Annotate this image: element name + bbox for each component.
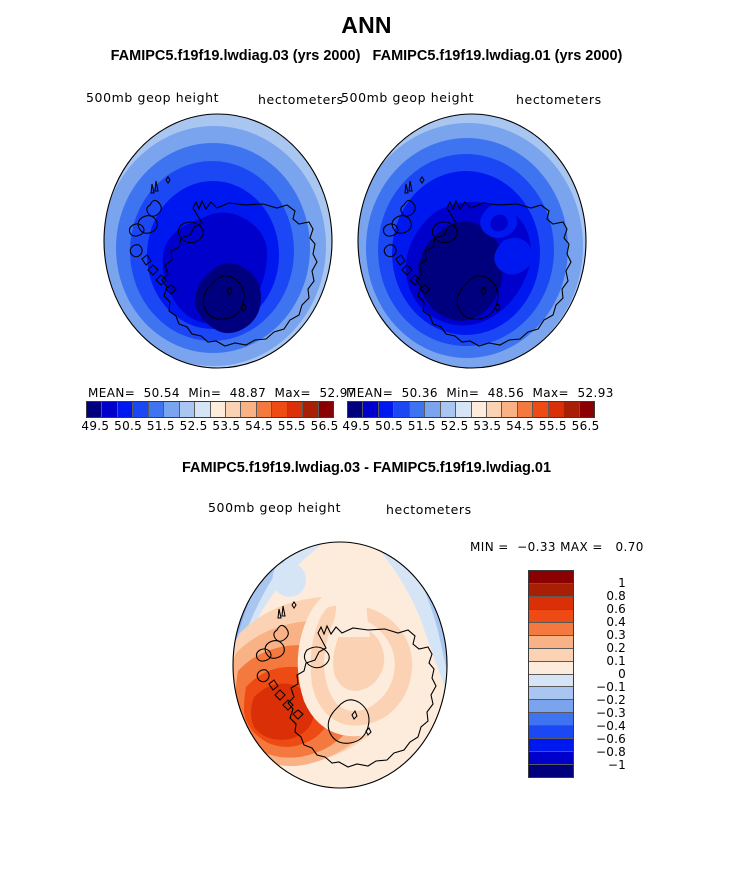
colorbar-band-11: [256, 402, 271, 417]
difference-tick-label-11: −0.4: [580, 719, 626, 733]
colorbar-band-13: [548, 402, 563, 417]
left-stats-line: MEAN= 50.54 Min= 48.87 Max= 52.97: [88, 386, 356, 400]
difference-minmax-line: MIN = −0.33 MAX = 0.70: [470, 540, 644, 554]
right-stats-line: MEAN= 50.36 Min= 48.56 Max= 52.93: [346, 386, 614, 400]
difference-colorbar-wrap: [528, 570, 574, 778]
polar-map-difference: [232, 541, 448, 789]
colorbar-band-1: [101, 402, 116, 417]
difference-tick-label-2: 0.6: [580, 602, 626, 616]
colorbar-band-13: [287, 402, 302, 417]
difference-tick-label-4: 0.3: [580, 628, 626, 642]
colorbar-band-6: [529, 648, 573, 661]
left-colorbar: [86, 401, 334, 418]
colorbar-band-15: [318, 402, 333, 417]
difference-tick-label-5: 0.2: [580, 641, 626, 655]
left-colorbar-ticks: 49.550.551.552.553.554.555.556.5: [79, 419, 341, 433]
difference-tick-label-1: 0.8: [580, 589, 626, 603]
colorbar-band-2: [529, 596, 573, 609]
colorbar-band-1: [529, 583, 573, 596]
difference-tick-label-7: 0: [580, 667, 626, 681]
colorbar-band-15: [529, 764, 573, 777]
colorbar-band-6: [179, 402, 194, 417]
difference-variable-label: 500mb geop height: [208, 500, 341, 515]
tick-label-0: 49.5: [340, 419, 373, 433]
colorbar-band-9: [529, 686, 573, 699]
tick-label-4: 53.5: [471, 419, 504, 433]
right-units-label: hectometers: [516, 92, 602, 107]
colorbar-band-5: [424, 402, 439, 417]
difference-tick-label-3: 0.4: [580, 615, 626, 629]
tick-label-1: 50.5: [373, 419, 406, 433]
colorbar-band-4: [409, 402, 424, 417]
difference-colorbar-ticks: 10.80.60.40.30.20.10−0.1−0.2−0.3−0.4−0.6…: [580, 570, 640, 778]
difference-tick-label-10: −0.3: [580, 706, 626, 720]
colorbar-band-1: [362, 402, 377, 417]
colorbar-band-14: [563, 402, 578, 417]
colorbar-band-10: [529, 699, 573, 712]
colorbar-band-10: [240, 402, 255, 417]
right-colorbar: [347, 401, 595, 418]
colorbar-band-0: [87, 402, 101, 417]
colorbar-band-5: [529, 635, 573, 648]
colorbar-band-0: [348, 402, 362, 417]
difference-tick-label-12: −0.6: [580, 732, 626, 746]
polar-map-case-03: [103, 113, 333, 369]
colorbar-band-10: [501, 402, 516, 417]
difference-tick-label-8: −0.1: [580, 680, 626, 694]
colorbar-band-12: [271, 402, 286, 417]
colorbar-band-3: [529, 609, 573, 622]
right-variable-label: 500mb geop height: [341, 90, 474, 105]
colorbar-band-9: [225, 402, 240, 417]
colorbar-band-4: [529, 622, 573, 635]
colorbar-band-12: [532, 402, 547, 417]
polar-map-case-01: [357, 113, 587, 369]
difference-tick-label-14: −1: [580, 758, 626, 772]
difference-tick-label-0: 1: [580, 576, 626, 590]
tick-label-3: 52.5: [438, 419, 471, 433]
colorbar-band-12: [529, 725, 573, 738]
colorbar-band-7: [529, 661, 573, 674]
colorbar-band-4: [148, 402, 163, 417]
colorbar-band-8: [471, 402, 486, 417]
tick-label-5: 54.5: [504, 419, 537, 433]
colorbar-band-2: [378, 402, 393, 417]
tick-label-4: 53.5: [210, 419, 243, 433]
difference-tick-label-9: −0.2: [580, 693, 626, 707]
colorbar-band-14: [302, 402, 317, 417]
right-colorbar-ticks: 49.550.551.552.553.554.555.556.5: [340, 419, 602, 433]
colorbar-band-15: [579, 402, 594, 417]
tick-label-1: 50.5: [112, 419, 145, 433]
left-variable-label: 500mb geop height: [86, 90, 219, 105]
tick-label-3: 52.5: [177, 419, 210, 433]
colorbar-band-11: [529, 712, 573, 725]
tick-label-7: 56.5: [569, 419, 602, 433]
colorbar-band-8: [210, 402, 225, 417]
colorbar-band-14: [529, 751, 573, 764]
page-title: ANN: [0, 12, 733, 39]
colorbar-band-3: [132, 402, 147, 417]
tick-label-0: 49.5: [79, 419, 112, 433]
tick-label-6: 55.5: [276, 419, 309, 433]
tick-label-5: 54.5: [243, 419, 276, 433]
colorbar-band-2: [117, 402, 132, 417]
tick-label-2: 51.5: [145, 419, 178, 433]
colorbar-band-7: [455, 402, 470, 417]
colorbar-band-0: [529, 571, 573, 583]
colorbar-band-6: [440, 402, 455, 417]
left-units-label: hectometers: [258, 92, 344, 107]
tick-label-2: 51.5: [406, 419, 439, 433]
tick-label-7: 56.5: [308, 419, 341, 433]
difference-title: FAMIPC5.f19f19.lwdiag.03 - FAMIPC5.f19f1…: [0, 460, 733, 476]
difference-tick-label-6: 0.1: [580, 654, 626, 668]
colorbar-band-11: [517, 402, 532, 417]
difference-units-label: hectometers: [386, 502, 472, 517]
colorbar-band-5: [163, 402, 178, 417]
colorbar-band-13: [529, 738, 573, 751]
difference-colorbar: [528, 570, 574, 778]
colorbar-band-7: [194, 402, 209, 417]
colorbar-band-3: [393, 402, 408, 417]
tick-label-6: 55.5: [537, 419, 570, 433]
colorbar-band-8: [529, 674, 573, 687]
difference-tick-label-13: −0.8: [580, 745, 626, 759]
colorbar-band-9: [486, 402, 501, 417]
case-subtitle: FAMIPC5.f19f19.lwdiag.03 (yrs 2000) FAMI…: [0, 48, 733, 64]
